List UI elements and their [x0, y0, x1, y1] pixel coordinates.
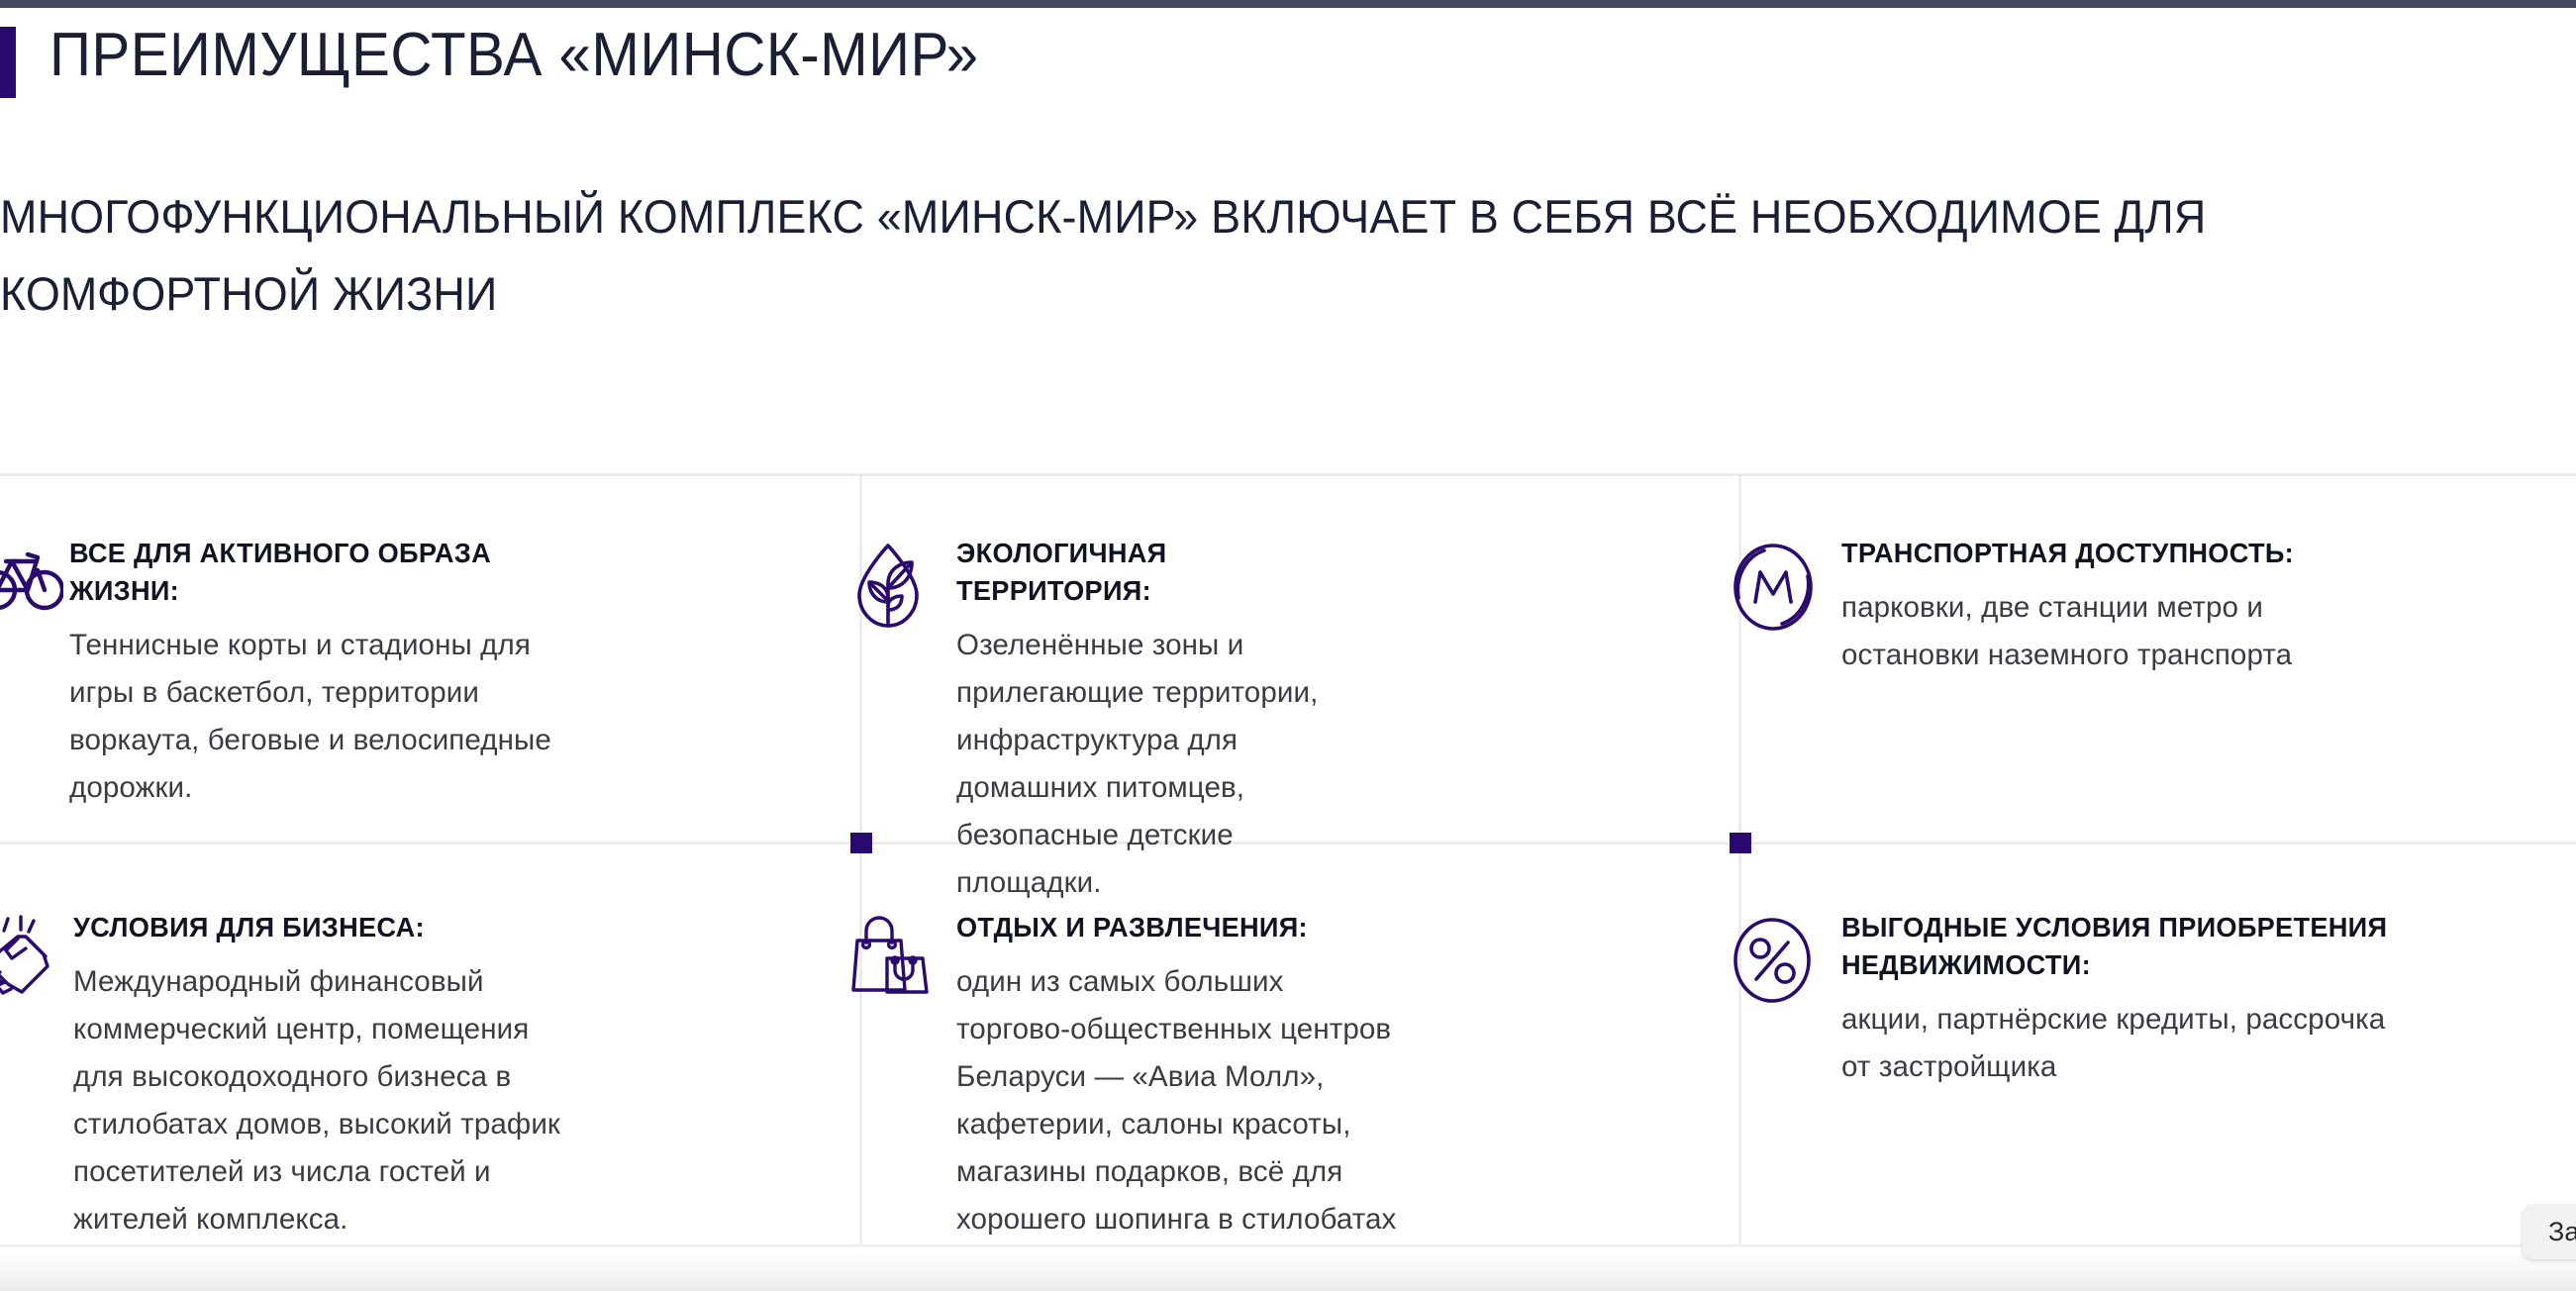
advantage-card-text: один из самых больших торгово-общественн…: [956, 958, 1397, 1291]
eco-leaf-drop-icon: [849, 535, 956, 907]
advantage-card-text: акции, партнёрские кредиты, рассрочка от…: [1841, 996, 2415, 1091]
advantage-card-title: ВЫГОДНЫЕ УСЛОВИЯ ПРИОБРЕТЕНИЯ НЕДВИЖИМОС…: [1841, 909, 2406, 984]
advantages-grid: ВСЕ ДЛЯ АКТИВНОГО ОБРАЗА ЖИЗНИ: Теннисны…: [0, 473, 2576, 1247]
page-bottom-shadow: [0, 1243, 2576, 1291]
advantage-card-body: ВСЕ ДЛЯ АКТИВНОГО ОБРАЗА ЖИЗНИ: Теннисны…: [69, 535, 572, 812]
advantage-card-title: ОТДЫХ И РАЗВЛЕЧЕНИЯ:: [956, 909, 1390, 946]
page-root: ПРЕИМУЩЕСТВА «МИНСК-МИР» МНОГОФУНКЦИОНАЛ…: [0, 0, 2576, 1291]
title-accent-bar: [0, 27, 16, 98]
page-title: ПРЕИМУЩЕСТВА «МИНСК-МИР»: [50, 20, 978, 90]
advantage-card-body: ВЫГОДНЫЕ УСЛОВИЯ ПРИОБРЕТЕНИЯ НЕДВИЖИМОС…: [1841, 909, 2424, 1091]
page-header: ПРЕИМУЩЕСТВА «МИНСК-МИР» МНОГОФУНКЦИОНАЛ…: [0, 8, 2576, 107]
advantage-card-body: ЭКОЛОГИЧНАЯ ТЕРРИТОРИЯ: Озеленённые зоны…: [956, 535, 1364, 907]
advantage-card-title: УСЛОВИЯ ДЛЯ БИЗНЕСА:: [73, 909, 567, 946]
advantage-card-body: ТРАНСПОРТНАЯ ДОСТУПНОСТЬ: парковки, две …: [1841, 535, 2404, 679]
advantage-card-business[interactable]: УСЛОВИЯ ДЛЯ БИЗНЕСА: Международный финан…: [0, 909, 582, 1243]
advantage-card-transport[interactable]: ТРАНСПОРТНАЯ ДОСТУПНОСТЬ: парковки, две …: [1731, 535, 2404, 679]
top-chrome-bar: [0, 0, 2576, 8]
grid-marker-square-2: [1730, 833, 1751, 853]
advantage-card-title: ЭКОЛОГИЧНАЯ ТЕРРИТОРИЯ:: [956, 535, 1352, 610]
advantage-card-leisure[interactable]: ОТДЫХ И РАЗВЛЕЧЕНИЯ: один из самых больш…: [849, 909, 1404, 1291]
advantage-card-purchase-terms[interactable]: ВЫГОДНЫЕ УСЛОВИЯ ПРИОБРЕТЕНИЯ НЕДВИЖИМОС…: [1731, 909, 2424, 1091]
shopping-bags-icon: [849, 909, 956, 1291]
advantage-card-active-lifestyle[interactable]: ВСЕ ДЛЯ АКТИВНОГО ОБРАЗА ЖИЗНИ: Теннисны…: [0, 535, 572, 812]
advantage-card-text: Теннисные корты и стадионы для игры в ба…: [69, 622, 564, 812]
advantage-card-eco-territory[interactable]: ЭКОЛОГИЧНАЯ ТЕРРИТОРИЯ: Озеленённые зоны…: [849, 535, 1364, 907]
advantage-card-title: ТРАНСПОРТНАЯ ДОСТУПНОСТЬ:: [1841, 535, 2387, 572]
bicycle-icon: [0, 535, 73, 812]
grid-divider-top: [0, 473, 2576, 476]
floating-callback-button[interactable]: Зап: [2523, 1205, 2576, 1259]
handshake-icon: [0, 909, 73, 1243]
percent-icon: [1731, 909, 1841, 1091]
advantage-card-text: Международный финансовый коммерческий це…: [73, 958, 574, 1243]
title-row: ПРЕИМУЩЕСТВА «МИНСК-МИР»: [0, 8, 2576, 107]
advantage-card-body: УСЛОВИЯ ДЛЯ БИЗНЕСА: Международный финан…: [73, 909, 582, 1243]
metro-icon: [1731, 535, 1841, 679]
advantage-card-text: парковки, две станции метро и остановки …: [1841, 584, 2395, 679]
advantage-card-body: ОТДЫХ И РАЗВЛЕЧЕНИЯ: один из самых больш…: [956, 909, 1404, 1291]
advantage-card-title: ВСЕ ДЛЯ АКТИВНОГО ОБРАЗА ЖИЗНИ:: [69, 535, 557, 610]
page-subtitle: МНОГОФУНКЦИОНАЛЬНЫЙ КОМПЛЕКС «МИНСК-МИР»…: [0, 178, 2429, 333]
advantage-card-text: Озеленённые зоны и прилегающие территори…: [956, 622, 1358, 907]
